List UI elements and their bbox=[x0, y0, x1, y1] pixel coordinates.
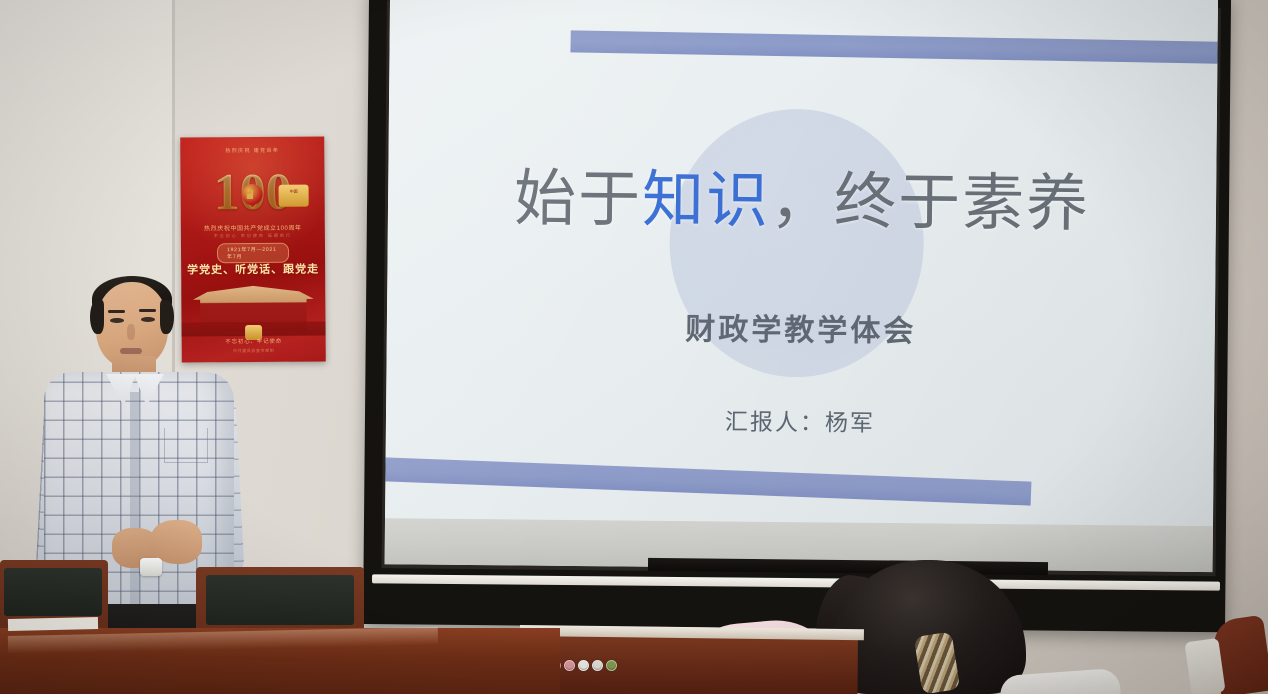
button-white-1[interactable] bbox=[578, 660, 589, 671]
presentation-clicker[interactable] bbox=[140, 558, 162, 576]
slide-title-part1: 始于 bbox=[514, 165, 643, 234]
presenter-hair-left bbox=[90, 300, 104, 334]
slide-title-part2: ，终于素养 bbox=[770, 168, 1091, 239]
projection-screen-frame: 始于知识，终于素养 财政学教学体会 汇报人：杨军 bbox=[363, 0, 1231, 632]
poster-slogan: 学党史、听党话、跟党走 bbox=[181, 260, 325, 277]
poster-heading-small: 不忘初心 牢记使命 砥砺前行 bbox=[181, 232, 325, 239]
presenter-eye-left bbox=[110, 318, 124, 323]
chair-pad-left bbox=[4, 568, 102, 616]
presentation-slide: 始于知识，终于素养 财政学教学体会 汇报人：杨军 bbox=[385, 0, 1218, 528]
poster-footer-1: 不忘初心、牢记使命 bbox=[182, 336, 326, 345]
slide-title: 始于知识，终于素养 bbox=[388, 162, 1217, 242]
slide-subtitle: 财政学教学体会 bbox=[387, 301, 1215, 353]
button-green[interactable] bbox=[606, 660, 617, 671]
poster-heading: 热烈庆祝中国共产党成立100周年 bbox=[181, 222, 325, 232]
presentation-room-photo: 热烈庆祝 建党百年 100 中国 热烈庆祝中国共产党成立100周年 不忘初心 牢… bbox=[0, 0, 1268, 694]
party-centenary-poster: 热烈庆祝 建党百年 100 中国 热烈庆祝中国共产党成立100周年 不忘初心 牢… bbox=[180, 137, 326, 363]
slide-top-accent-bar bbox=[570, 30, 1218, 63]
poster-badge: 中国 bbox=[279, 185, 309, 207]
presenter-shirt-pocket bbox=[164, 428, 208, 463]
button-pink[interactable] bbox=[564, 660, 575, 671]
control-button-panel[interactable] bbox=[550, 657, 620, 673]
hammer-sickle-icon bbox=[242, 184, 263, 205]
poster-badge-line1: 中国 bbox=[290, 189, 298, 194]
button-white-2[interactable] bbox=[592, 660, 603, 671]
slide-presenter-line: 汇报人：杨军 bbox=[386, 399, 1214, 441]
presenter-eyebrow-left bbox=[108, 310, 125, 313]
slide-title-accent: 知识 bbox=[642, 167, 771, 236]
presenter-mouth bbox=[120, 348, 142, 354]
presenter-shirt-placket bbox=[130, 392, 139, 622]
presenter-nose bbox=[127, 324, 135, 340]
presenter-eyebrow-right bbox=[139, 309, 156, 312]
presenter-eye-right bbox=[141, 317, 155, 322]
presenter-hair-right bbox=[160, 300, 174, 334]
paper-on-table bbox=[8, 617, 98, 631]
poster-footer-2: 中共委员会宣传部制 bbox=[182, 347, 326, 354]
poster-top-line: 热烈庆祝 建党百年 bbox=[180, 146, 324, 156]
slide-bottom-accent-bar bbox=[385, 457, 1031, 505]
projection-screen-surface: 始于知识，终于素养 财政学教学体会 汇报人：杨军 bbox=[385, 0, 1219, 572]
